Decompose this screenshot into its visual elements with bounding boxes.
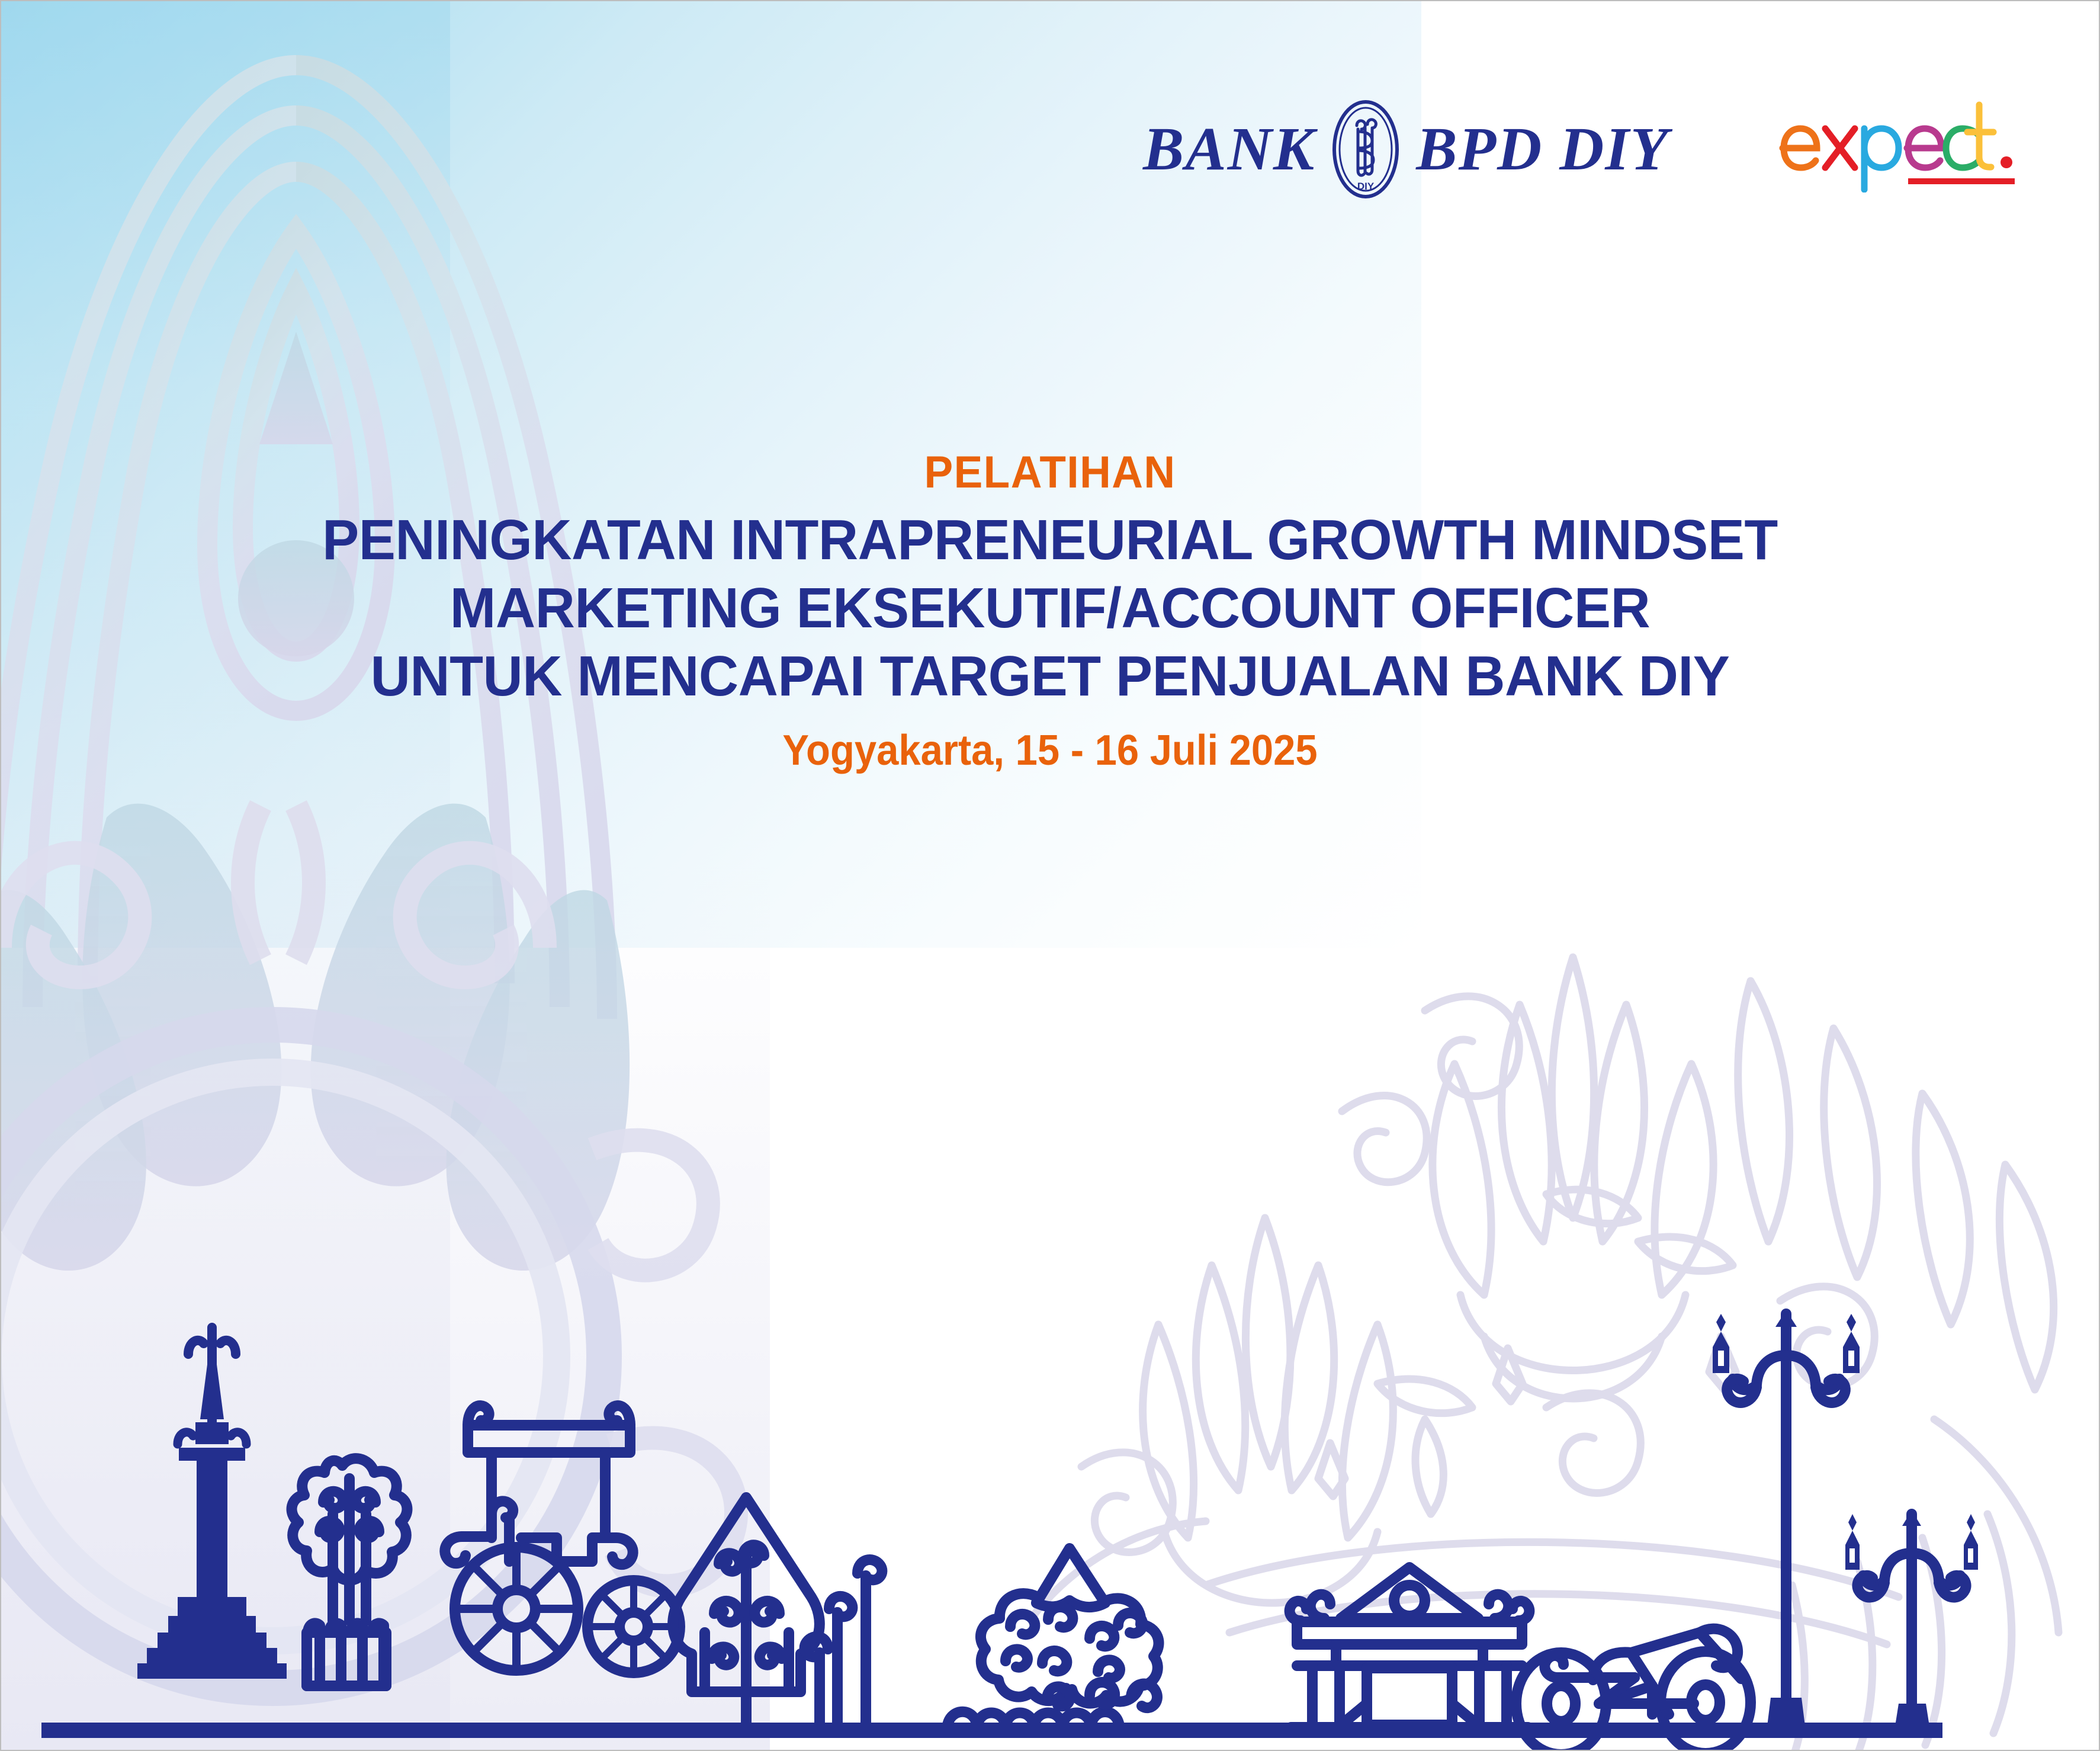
title-line-2: MARKETING EKSEKUTIF/ACCOUNT OFFICER	[31, 574, 2069, 642]
title-kicker: PELATIHAN	[42, 450, 2058, 495]
page-title: PENINGKATAN INTRAPRENEURIAL GROWTH MINDS…	[31, 506, 2069, 711]
expect-logo	[1771, 92, 2019, 193]
ground-line	[41, 1723, 1942, 1738]
bank-bpd-diy-logo: BANK DIY BPD DI	[1143, 100, 1669, 199]
title-line-1: PENINGKATAN INTRAPRENEURIAL GROWTH MINDS…	[31, 506, 2069, 574]
merapi-mountain-cloud-icon	[981, 1548, 1159, 1703]
gunungan-tree-icon	[673, 1497, 820, 1727]
yogyakarta-skyline-illustration	[0, 1218, 2100, 1751]
title-line-3: UNTUK MENCAPAI TARGET PENJUALAN BANK DIY	[31, 642, 2069, 710]
tugu-monument-icon	[137, 1327, 287, 1679]
banyan-tree-icon	[292, 1458, 407, 1686]
street-lamp-short-icon	[1845, 1511, 1978, 1726]
andong-carriage-icon	[445, 1406, 680, 1673]
svg-text:DIY: DIY	[1357, 181, 1375, 192]
bank-logo-word-left: BANK	[1143, 118, 1315, 180]
pendopo-gapura-icon	[1290, 1567, 1530, 1727]
logo-row: BANK DIY BPD DI	[0, 0, 2100, 195]
banner-canvas: BANK DIY BPD DI	[0, 0, 2100, 1751]
title-block: PELATIHAN PENINGKATAN INTRAPRENEURIAL GR…	[0, 450, 2100, 775]
bank-logo-word-right: BPD DIY	[1416, 118, 1669, 180]
event-date-location: Yogyakarta, 15 - 16 Juli 2025	[73, 726, 2027, 775]
bank-seal-icon: DIY	[1331, 100, 1401, 199]
